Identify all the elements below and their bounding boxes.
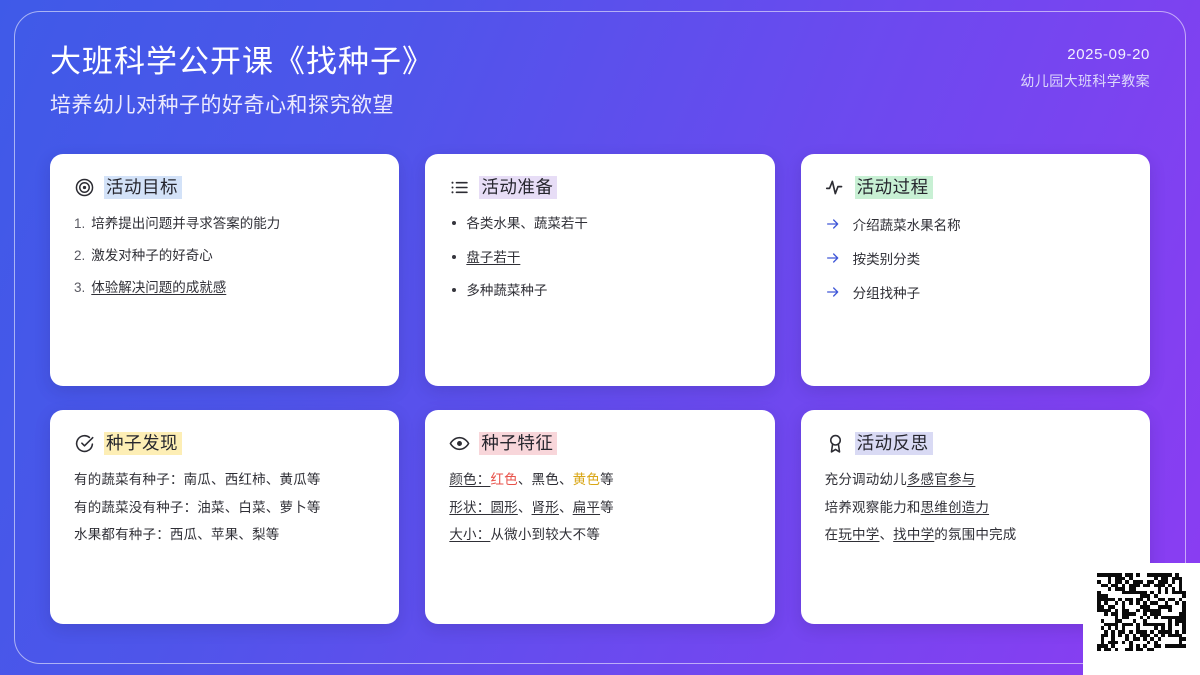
card-header: 活动过程 xyxy=(825,176,1126,199)
feature-label: 形状： xyxy=(449,500,490,515)
text-part-emphasis: 多感官参与 xyxy=(907,472,976,487)
card-title: 种子发现 xyxy=(104,432,182,455)
slide-content: 大班科学公开课《找种子》 培养幼儿对种子的好奇心和探究欲望 2025-09-20… xyxy=(0,0,1200,675)
card-title: 活动过程 xyxy=(855,176,933,199)
card-header: 种子特征 xyxy=(449,432,750,455)
list-item: 盘子若干 xyxy=(449,248,750,268)
activity-pulse-icon xyxy=(825,177,846,198)
text-part-emphasis: 玩中学 xyxy=(838,527,879,542)
feature-label: 颜色： xyxy=(449,472,490,487)
text-line: 形状：圆形、肾形、扁平等 xyxy=(449,498,750,519)
list-item: 分组找种子 xyxy=(825,282,1126,302)
text-line: 水果都有种子：西瓜、苹果、梨等 xyxy=(74,525,375,546)
text-line: 有的蔬菜有种子：南瓜、西红柿、黄瓜等 xyxy=(74,470,375,491)
arrow-right-icon xyxy=(825,250,841,266)
list-item: 多种蔬菜种子 xyxy=(449,281,750,301)
card-title: 活动准备 xyxy=(479,176,557,199)
arrow-right-icon xyxy=(825,216,841,232)
eye-icon xyxy=(449,433,470,454)
list-text: 按类别分类 xyxy=(853,248,921,268)
card-title: 种子特征 xyxy=(479,432,557,455)
list-text: 分组找种子 xyxy=(853,282,921,302)
qr-code-plate[interactable] xyxy=(1083,563,1200,675)
text-part: 培养观察能力和 xyxy=(825,500,921,515)
feature-value: 扁平 xyxy=(573,500,600,515)
card-header: 活动目标 xyxy=(74,176,375,199)
text-part: 在 xyxy=(825,527,839,542)
text-line: 大小：从微小到较大不等 xyxy=(449,525,750,546)
date-label: 2025-09-20 xyxy=(1020,46,1150,63)
text-line: 有的蔬菜没有种子：油菜、白菜、萝卜等 xyxy=(74,498,375,519)
text-line: 充分调动幼儿多感官参与 xyxy=(825,470,1126,491)
list-icon xyxy=(449,177,470,198)
suffix: 等 xyxy=(600,472,614,487)
text-line: 培养观察能力和思维创造力 xyxy=(825,498,1126,519)
org-label: 幼儿园大班科学教案 xyxy=(1020,71,1150,91)
card-activity-preparation[interactable]: 活动准备 各类水果、蔬菜若干 盘子若干 多种蔬菜种子 xyxy=(425,154,774,386)
list-number: 2. xyxy=(74,246,85,266)
target-icon xyxy=(74,177,95,198)
slide-header: 大班科学公开课《找种子》 培养幼儿对种子的好奇心和探究欲望 2025-09-20… xyxy=(50,42,1150,146)
list-text: 体验解决问题的成就感 xyxy=(91,278,226,298)
text-line: 颜色：红色、黑色、黄色等 xyxy=(449,470,750,491)
list-item: 1.培养提出问题并寻求答案的能力 xyxy=(74,214,375,234)
award-icon xyxy=(825,433,846,454)
list-item: 按类别分类 xyxy=(825,248,1126,268)
check-circle-icon xyxy=(74,433,95,454)
goal-list: 1.培养提出问题并寻求答案的能力 2.激发对种子的好奇心 3.体验解决问题的成就… xyxy=(74,214,375,298)
text-part: 充分调动幼儿 xyxy=(825,472,907,487)
arrow-right-icon xyxy=(825,284,841,300)
list-number: 3. xyxy=(74,278,85,298)
qr-code[interactable] xyxy=(1097,573,1186,662)
feature-lines: 颜色：红色、黑色、黄色等 形状：圆形、肾形、扁平等 大小：从微小到较大不等 xyxy=(449,470,750,546)
header-meta: 2025-09-20 幼儿园大班科学教案 xyxy=(1020,46,1150,91)
text-part: 的氛围中完成 xyxy=(934,527,1016,542)
text-part-emphasis: 思维创造力 xyxy=(921,500,990,515)
list-item: 各类水果、蔬菜若干 xyxy=(449,214,750,234)
suffix: 等 xyxy=(600,500,614,515)
preparation-list: 各类水果、蔬菜若干 盘子若干 多种蔬菜种子 xyxy=(449,214,750,301)
card-activity-process[interactable]: 活动过程 介绍蔬菜水果名称 按类别分类 分组找种子 xyxy=(801,154,1150,386)
feature-value: 圆形 xyxy=(490,500,517,515)
card-activity-goals[interactable]: 活动目标 1.培养提出问题并寻求答案的能力 2.激发对种子的好奇心 3.体验解决… xyxy=(50,154,399,386)
process-list: 介绍蔬菜水果名称 按类别分类 分组找种子 xyxy=(825,214,1126,302)
text-part-emphasis: 找中学 xyxy=(893,527,934,542)
list-item: 2.激发对种子的好奇心 xyxy=(74,246,375,266)
separator: 、 xyxy=(518,500,532,515)
feature-value: 黄色 xyxy=(573,472,600,487)
card-title: 活动反思 xyxy=(855,432,933,455)
feature-value: 肾形 xyxy=(532,500,559,515)
separator: 、 xyxy=(518,472,532,487)
list-text: 培养提出问题并寻求答案的能力 xyxy=(91,214,280,234)
feature-value: 红色 xyxy=(490,472,517,487)
feature-label: 大小： xyxy=(449,527,490,542)
card-seed-features[interactable]: 种子特征 颜色：红色、黑色、黄色等 形状：圆形、肾形、扁平等 大小：从微小到较大… xyxy=(425,410,774,624)
list-text: 盘子若干 xyxy=(466,250,520,265)
list-text: 激发对种子的好奇心 xyxy=(91,246,213,266)
card-seed-findings[interactable]: 种子发现 有的蔬菜有种子：南瓜、西红柿、黄瓜等 有的蔬菜没有种子：油菜、白菜、萝… xyxy=(50,410,399,624)
feature-value: 从微小到较大不等 xyxy=(490,527,600,542)
text-line: 在玩中学、找中学的氛围中完成 xyxy=(825,525,1126,546)
card-header: 活动反思 xyxy=(825,432,1126,455)
card-header: 活动准备 xyxy=(449,176,750,199)
findings-lines: 有的蔬菜有种子：南瓜、西红柿、黄瓜等 有的蔬菜没有种子：油菜、白菜、萝卜等 水果… xyxy=(74,470,375,546)
list-item: 介绍蔬菜水果名称 xyxy=(825,214,1126,234)
reflection-lines: 充分调动幼儿多感官参与 培养观察能力和思维创造力 在玩中学、找中学的氛围中完成 xyxy=(825,470,1126,546)
card-grid: 活动目标 1.培养提出问题并寻求答案的能力 2.激发对种子的好奇心 3.体验解决… xyxy=(50,154,1150,624)
list-item: 3.体验解决问题的成就感 xyxy=(74,278,375,298)
separator: 、 xyxy=(559,500,573,515)
list-text: 介绍蔬菜水果名称 xyxy=(853,214,961,234)
page-subtitle: 培养幼儿对种子的好奇心和探究欲望 xyxy=(50,89,1150,119)
list-number: 1. xyxy=(74,214,85,234)
page-title: 大班科学公开课《找种子》 xyxy=(50,42,1150,82)
separator: 、 xyxy=(559,472,573,487)
card-title: 活动目标 xyxy=(104,176,182,199)
feature-value: 黑色 xyxy=(532,472,559,487)
card-header: 种子发现 xyxy=(74,432,375,455)
separator: 、 xyxy=(879,527,893,542)
